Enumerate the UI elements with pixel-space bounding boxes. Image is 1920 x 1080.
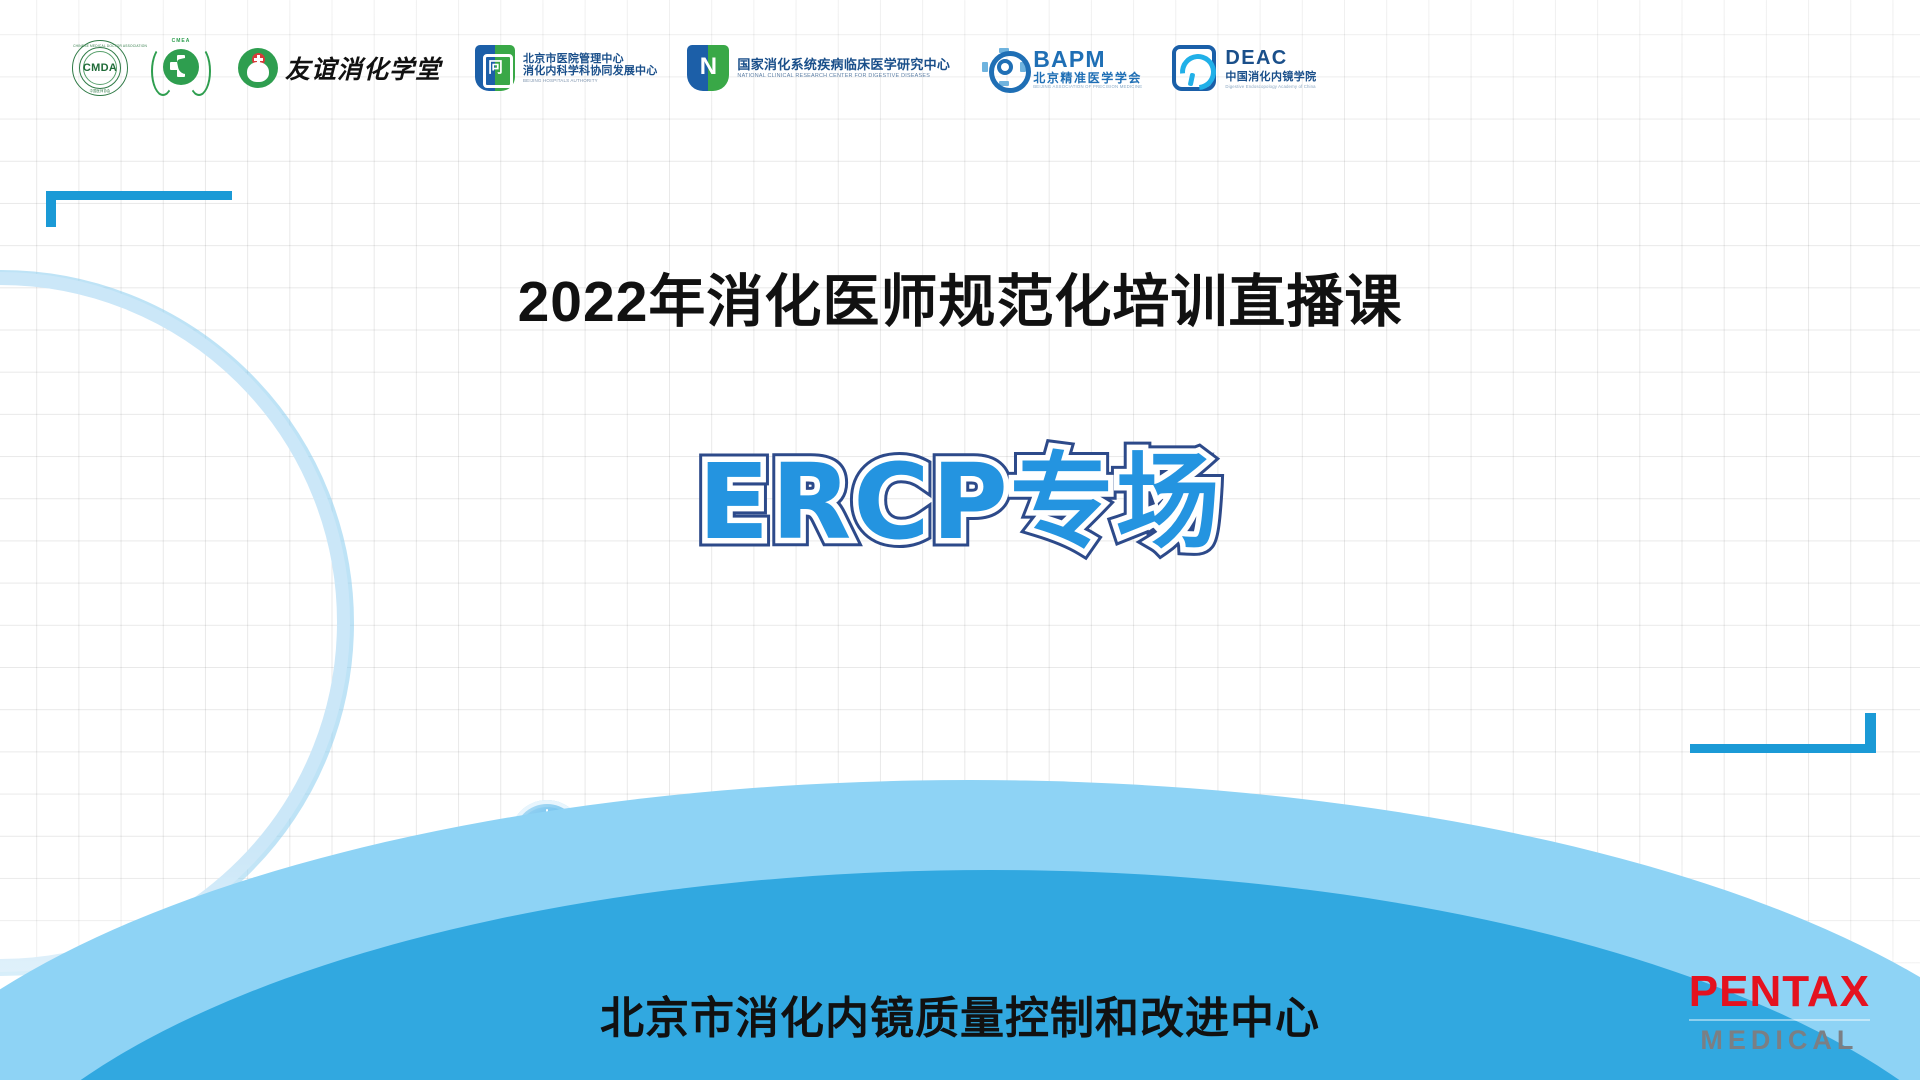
poster-canvas: CHINESE MEDICAL DOCTOR ASSOCIATION CMDA …: [0, 0, 1920, 1080]
sponsor-pentax-medical: PENTAX MEDICAL: [1689, 970, 1870, 1054]
cmea-wreath-icon: CMEA: [150, 38, 212, 98]
blue-green-shield-icon: 冋: [475, 45, 515, 91]
bha-line-2: 消化内科学科协同发展中心: [523, 65, 657, 77]
headline-ercp: ERCP专场 ERCP专场 ERCP专场: [698, 450, 1222, 554]
corner-bracket-top-left: [46, 191, 232, 227]
bha-line-1: 北京市医院管理中心: [523, 53, 657, 65]
ncrc-en-label: NATIONAL CLINICAL RESEARCH CENTER FOR DI…: [737, 73, 950, 79]
headline-block: ERCP专场 ERCP专场 ERCP专场: [0, 450, 1920, 580]
logo-deac: DEAC 中国消化内镜学院 Digestive Endoscopology Ac…: [1172, 32, 1316, 104]
logo-youyi: 友谊消化学堂: [238, 32, 441, 104]
corner-bracket-bottom-right: [1690, 713, 1876, 753]
footer-organizer: 北京市消化内镜质量控制和改进中心: [0, 982, 1920, 1046]
pentax-sub-label: MEDICAL: [1689, 1027, 1870, 1054]
ncrc-cn-label: 国家消化系统疾病临床医学研究中心: [737, 57, 950, 72]
cmea-cap-label: CMEA: [150, 38, 212, 44]
bha-line-3: BEIJING HOSPITALS AUTHORITY: [523, 78, 657, 83]
bapm-target-icon: [982, 48, 1026, 88]
headline-fill: ERCP专场: [698, 441, 1222, 563]
cmda-wordmark: CMDA: [72, 62, 128, 74]
youyi-wordmark: 友谊消化学堂: [285, 50, 441, 86]
logo-cmea: CMEA: [150, 32, 212, 104]
youyi-cross-icon: [238, 48, 278, 88]
cmda-arc-top: CHINESE MEDICAL DOCTOR ASSOCIATION: [73, 44, 127, 48]
partner-logo-strip: CHINESE MEDICAL DOCTOR ASSOCIATION CMDA …: [72, 32, 1317, 104]
bapm-cn-label: 北京精准医学学会: [1033, 72, 1142, 85]
deac-en-label: Digestive Endoscopology Academy of China: [1225, 84, 1316, 89]
bapm-en-label: BEIJING ASSOCIATION OF PRECISION MEDICIN…: [1033, 85, 1142, 90]
bapm-abbr: BAPM: [1033, 47, 1142, 72]
deac-abbr: DEAC: [1225, 47, 1316, 71]
logo-ncrc-digestive: N 国家消化系统疾病临床医学研究中心 NATIONAL CLINICAL RES…: [687, 32, 950, 104]
deac-cn-label: 中国消化内镜学院: [1225, 71, 1316, 84]
n-shield-icon: N: [687, 45, 729, 91]
poster-title: 2022年消化医师规范化培训直播课: [0, 256, 1920, 338]
logo-beijing-hospital-authority: 冋 北京市医院管理中心 消化内科学科协同发展中心 BEIJING HOSPITA…: [475, 32, 657, 104]
logo-cmda: CHINESE MEDICAL DOCTOR ASSOCIATION CMDA …: [72, 32, 128, 104]
logo-bapm: BAPM 北京精准医学学会 BEIJING ASSOCIATION OF PRE…: [982, 32, 1142, 104]
pentax-divider: [1689, 1019, 1870, 1021]
cmda-arc-bottom: 中国医师协会: [73, 88, 127, 93]
cmda-seal-icon: CHINESE MEDICAL DOCTOR ASSOCIATION CMDA …: [72, 40, 128, 96]
deac-e-icon: [1172, 45, 1216, 91]
pentax-wordmark: PENTAX: [1689, 970, 1870, 1014]
